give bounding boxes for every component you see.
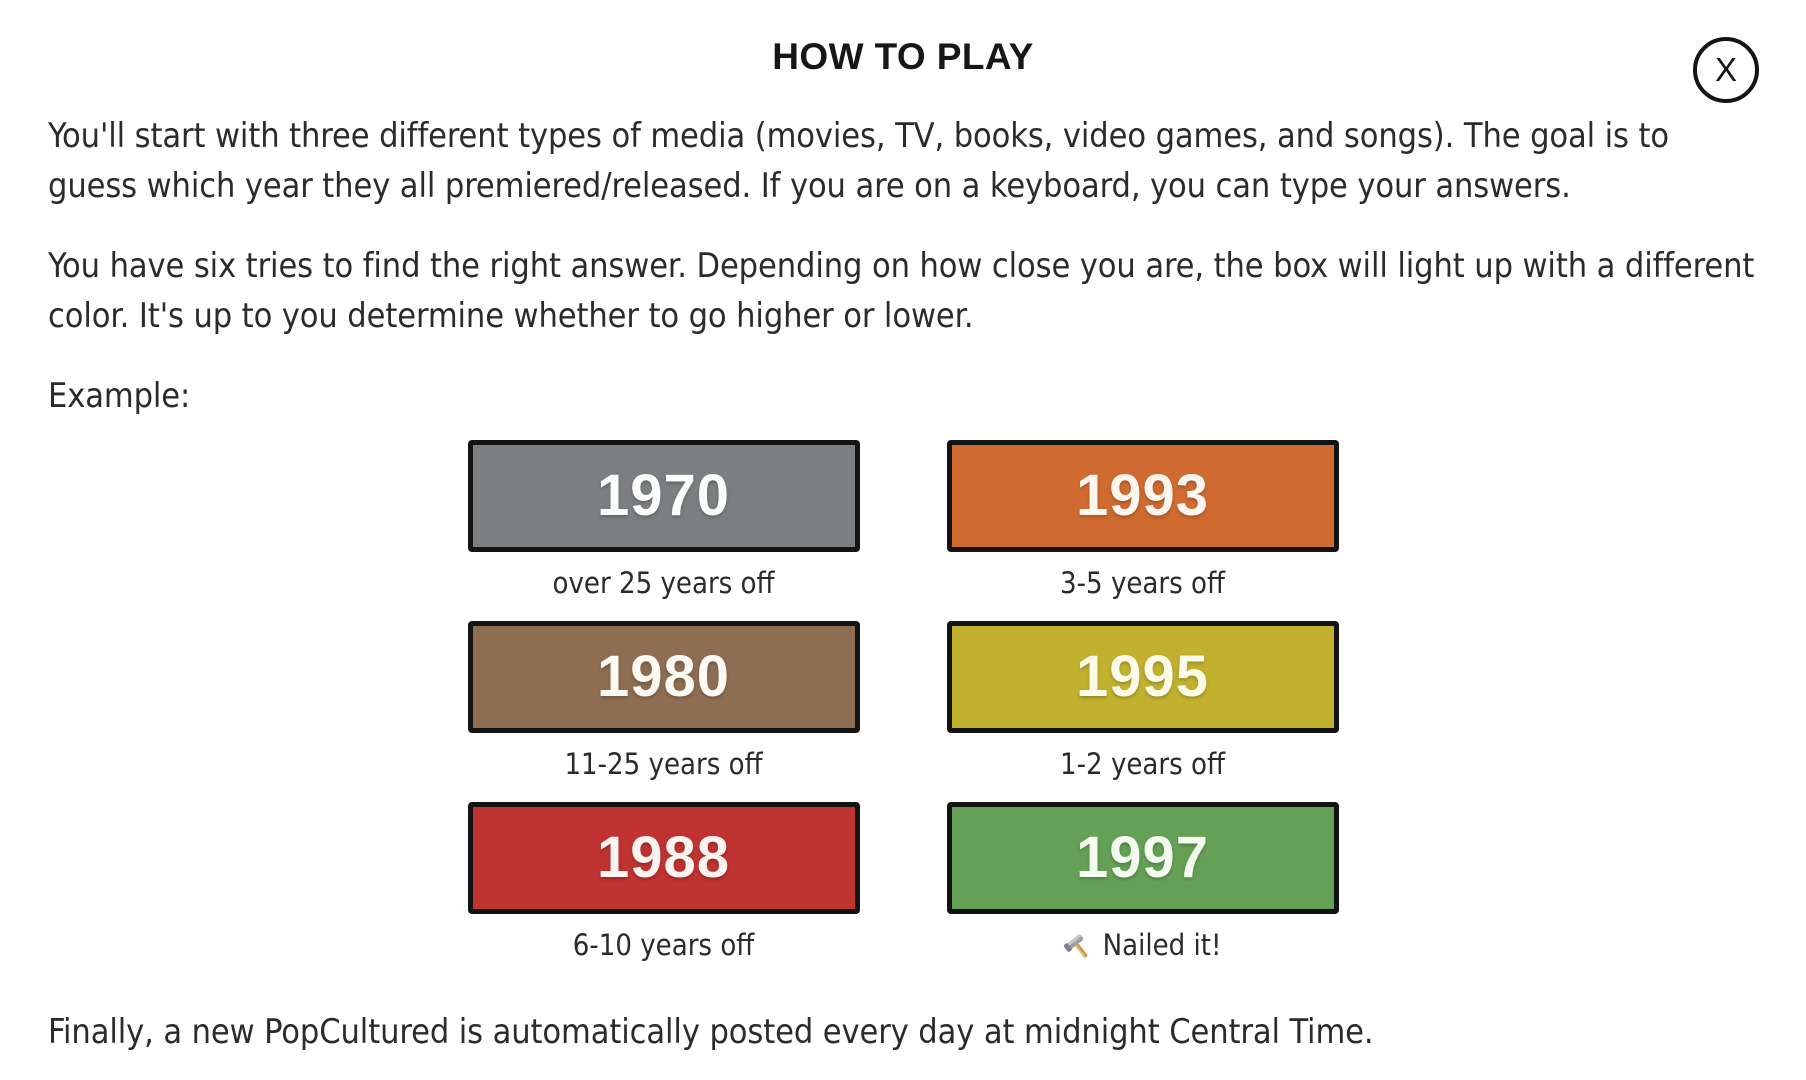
closing-paragraph: Finally, a new PopCultured is automatica… [48, 1008, 1758, 1058]
guess-row: 1980 11-25 years off [468, 621, 860, 802]
guess-box-1995: 1995 [947, 621, 1339, 733]
guess-row: 1995 1-2 years off [947, 621, 1339, 802]
guess-year-label: 1993 [1076, 467, 1209, 525]
example-column-left: 1970 over 25 years off 1980 11-25 years … [468, 440, 860, 984]
guess-row: 1993 3-5 years off [947, 440, 1339, 621]
guess-box-1980: 1980 [468, 621, 860, 733]
example-column-right: 1993 3-5 years off 1995 1-2 years off 19… [947, 440, 1339, 984]
close-x-glyph: X [1715, 53, 1737, 86]
close-circle-icon[interactable]: X [1693, 37, 1759, 103]
page-title: HOW TO PLAY [0, 36, 1806, 78]
example-label: Example: [48, 372, 1758, 422]
guess-caption-text: over 25 years off [553, 569, 775, 598]
guess-row: 1970 over 25 years off [468, 440, 860, 621]
guess-caption: 6-10 years off [573, 931, 755, 960]
guess-row: 1997 Nail [947, 802, 1339, 984]
guess-box-1988: 1988 [468, 802, 860, 914]
guess-year-label: 1980 [597, 648, 730, 706]
guess-year-label: 1988 [597, 829, 730, 887]
guess-caption-text: 6-10 years off [573, 931, 755, 960]
modal-header: HOW TO PLAY X [0, 0, 1806, 112]
guess-caption: 3-5 years off [1060, 569, 1225, 598]
guess-year-label: 1997 [1076, 829, 1209, 887]
guess-box-1970: 1970 [468, 440, 860, 552]
guess-caption: 11-25 years off [564, 750, 762, 779]
rules-paragraph: You have six tries to find the right ans… [48, 242, 1758, 342]
guess-caption: 1-2 years off [1060, 750, 1225, 779]
intro-paragraph: You'll start with three different types … [48, 112, 1758, 212]
guess-box-1993: 1993 [947, 440, 1339, 552]
guess-caption-text: Nailed it! [1103, 931, 1222, 960]
example-grid: 1970 over 25 years off 1980 11-25 years … [48, 440, 1758, 984]
guess-caption: Nailed it! [1064, 931, 1222, 961]
modal-body: You'll start with three different types … [0, 112, 1806, 1058]
guess-row: 1988 6-10 years off [468, 802, 860, 983]
guess-caption: over 25 years off [553, 569, 775, 598]
guess-box-1997: 1997 [947, 802, 1339, 914]
guess-year-label: 1970 [597, 467, 730, 525]
guess-year-label: 1995 [1076, 648, 1209, 706]
guess-caption-text: 11-25 years off [564, 750, 762, 779]
hammer-icon [1064, 933, 1094, 963]
guess-caption-text: 1-2 years off [1060, 750, 1225, 779]
guess-caption-text: 3-5 years off [1060, 569, 1225, 598]
